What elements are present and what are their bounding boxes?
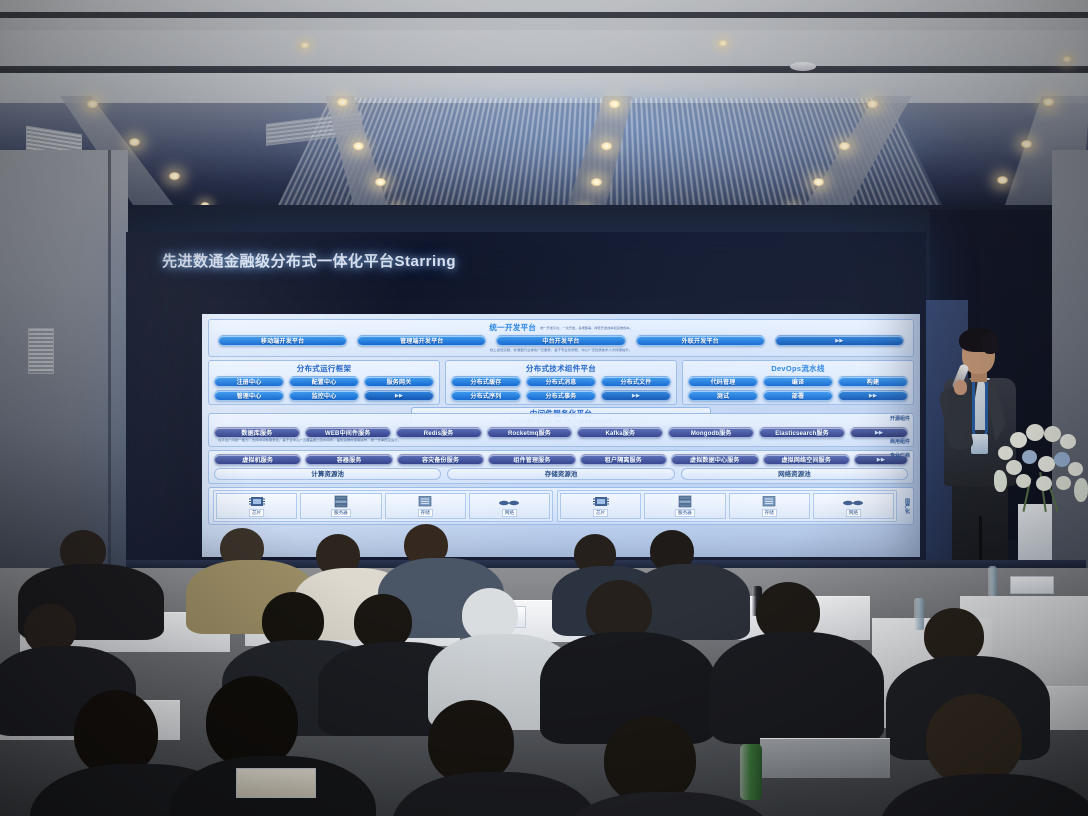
unified-dev-platform-note: 线上最佳实践，标准银行业体化广泛服务，基于专业化智能，中心广泛优质技术人才持续提… <box>214 348 908 353</box>
pill-dr-backup-service[interactable]: 容灾备份服务 <box>397 454 484 465</box>
pool-storage: 存储资源池 <box>447 468 674 480</box>
network-icon <box>814 494 893 509</box>
flower-bloom <box>1074 478 1088 502</box>
pill-compile[interactable]: 编译 <box>763 376 833 387</box>
recessed-spotlight <box>718 40 728 47</box>
pill-service-gateway[interactable]: 服务网关 <box>364 376 434 387</box>
pill-redis-service[interactable]: Redis服务 <box>396 427 482 438</box>
recessed-spotlight <box>168 172 181 181</box>
pill-unified-more[interactable] <box>775 335 904 346</box>
pill-manage-center[interactable]: 管理中心 <box>214 390 284 401</box>
ceiling-band-2 <box>0 30 1088 68</box>
hardware-cell-server: 服务器 <box>300 493 381 519</box>
pill-mongodb-service[interactable]: Mongodb服务 <box>668 427 754 438</box>
list-item <box>710 582 870 732</box>
network-icon <box>470 494 549 509</box>
pill-runtime-more[interactable] <box>364 390 434 401</box>
middleware-items: 数据库服务 WEB中间件服务 Redis服务 Rocketmq服务 Kafka服… <box>214 427 908 438</box>
flower-bloom <box>1060 434 1076 449</box>
recessed-spotlight <box>1020 140 1033 149</box>
pill-build[interactable]: 构建 <box>838 376 908 387</box>
table-row <box>760 738 890 778</box>
pill-devops-more[interactable] <box>838 390 908 401</box>
chip-icon <box>217 494 296 509</box>
flower-bloom <box>1036 476 1052 491</box>
list-item <box>880 694 1080 816</box>
wall-seam <box>108 150 111 580</box>
slide-layer-distributed-runtime-framework: 分布式运行框架 注册中心 配置中心 服务网关 管理中心 监控中心 <box>208 360 440 405</box>
storage-icon <box>730 494 809 509</box>
slide-layer-unified-dev-platform: 统一开发平台 统一开发平台，一次开发，多端部署，降低开发成本和运维成本。 移动端… <box>208 319 914 357</box>
pill-external-dev-platform[interactable]: 外联开发平台 <box>636 335 765 346</box>
flower-bloom <box>1044 426 1061 442</box>
pill-elasticsearch-service[interactable]: Elasticsearch服务 <box>759 427 845 438</box>
pill-distributed-message[interactable]: 分布式消息 <box>526 376 596 387</box>
recessed-spotlight <box>352 142 365 151</box>
flower-bloom-blue <box>1054 452 1070 467</box>
hardware-label-storage: 存储 <box>418 509 433 517</box>
virtualization-tag-vendor: 专业厂商 <box>890 452 910 459</box>
pill-vm-service[interactable]: 虚拟机服务 <box>214 454 301 465</box>
speaker-hand <box>954 380 967 395</box>
unified-dev-platform-header: 统一开发平台 统一开发平台，一次开发，多端部署，降低开发成本和运维成本。 <box>214 323 908 333</box>
middleware-tag-opensource: 开源组件 <box>890 415 910 422</box>
resource-pools: 计算资源池 存储资源池 网络资源池 <box>214 468 908 480</box>
devops-pipeline-items: 代码管理 编译 构建 测试 部署 <box>688 376 908 401</box>
name-card <box>236 768 316 798</box>
hardware-group-2: 芯片 服务器 存储 <box>557 490 897 522</box>
slide-layer-devops-pipeline: DevOps流水线 代码管理 编译 构建 测试 部署 <box>682 360 914 405</box>
recessed-spotlight <box>838 142 851 151</box>
hardware-cell-network-2: 网络 <box>813 493 894 519</box>
hardware-label-storage-2: 存储 <box>762 509 777 517</box>
pill-midend-dev-platform[interactable]: 中台开发平台 <box>496 335 625 346</box>
storage-icon <box>386 494 465 509</box>
recessed-spotlight <box>608 100 621 109</box>
hardware-cell-network: 网络 <box>469 493 550 519</box>
pill-distributed-cache[interactable]: 分布式缓存 <box>451 376 521 387</box>
hardware-cell-storage: 存储 <box>385 493 466 519</box>
wall-air-vent <box>28 328 54 374</box>
smoke-detector-icon <box>790 62 816 71</box>
hardware-cell-server-2: 服务器 <box>644 493 725 519</box>
pill-monitor-center[interactable]: 监控中心 <box>289 390 359 401</box>
distributed-tech-title: 分布式技术组件平台 <box>451 364 671 374</box>
recessed-spotlight <box>128 138 141 147</box>
hardware-label-network: 网络 <box>502 509 517 517</box>
recessed-spotlight <box>866 100 879 109</box>
pill-tenant-isolation-service[interactable]: 租户隔离服务 <box>580 454 667 465</box>
speaker-lanyard <box>972 382 988 438</box>
list-item <box>560 716 760 816</box>
slide-layer-distributed-tech-component-platform: 分布式技术组件平台 分布式缓存 分布式消息 分布式文件 分布式序列 分布式事务 <box>445 360 677 405</box>
name-card <box>1010 576 1054 594</box>
server-icon <box>301 494 380 509</box>
ceiling-reveal-1 <box>0 12 1088 18</box>
pill-config-center[interactable]: 配置中心 <box>289 376 359 387</box>
flower-bloom <box>1006 460 1022 475</box>
attendee-head <box>926 694 1022 786</box>
pill-database-service[interactable]: 数据库服务 <box>214 427 300 438</box>
pill-tech-more[interactable] <box>601 390 671 401</box>
slide-layer-middle-row: 分布式运行框架 注册中心 配置中心 服务网关 管理中心 监控中心 分布式技术组件… <box>208 360 914 405</box>
hardware-label-server-2: 服务器 <box>675 509 695 517</box>
conference-photo-scene: 先进数通金融级分布式一体化平台Starring 统一开发平台 统一开发平台，一次… <box>0 0 1088 816</box>
pill-distributed-sequence[interactable]: 分布式序列 <box>451 390 521 401</box>
flower-bloom <box>1038 456 1055 472</box>
hardware-label-chip-2: 芯片 <box>593 509 608 517</box>
right-wall-column <box>1052 150 1088 620</box>
hardware-cell-chip: 芯片 <box>216 493 297 519</box>
slide-layer-middleware-service-platform: 数据库服务 WEB中间件服务 Redis服务 Rocketmq服务 Kafka服… <box>208 413 914 447</box>
unified-dev-platform-items: 移动端开发平台 管理端开发平台 中台开发平台 外联开发平台 <box>214 335 908 346</box>
pool-network: 网络资源池 <box>681 468 908 480</box>
flower-bloom <box>994 470 1007 492</box>
flower-bloom <box>1026 424 1044 441</box>
water-bottle <box>988 566 997 596</box>
slide-title: 先进数通金融级分布式一体化平台Starring <box>162 250 456 271</box>
pill-code-management[interactable]: 代码管理 <box>688 376 758 387</box>
slide-layer-hardware-infrastructure: 芯片 服务器 存储 <box>208 487 914 525</box>
chip-icon <box>561 494 640 509</box>
middleware-title-anchor: 中间件服务化平台 屏蔽中间件差异，统一纳管、运维、部署、扩缩容等全生命周期管理 <box>208 408 914 410</box>
pill-middleware-more[interactable] <box>850 427 908 438</box>
recessed-spotlight <box>300 42 310 49</box>
hardware-tag-localization: 国产化 <box>904 499 911 514</box>
flower-bloom <box>1016 474 1031 488</box>
middleware-note: 在平台广阔统一能力，支持中间件服务化，基于全中心广泛覆盖能力及中间件，提供运维时… <box>214 438 908 443</box>
unified-dev-platform-title: 统一开发平台 <box>489 323 536 333</box>
flower-vase <box>1018 504 1052 560</box>
flower-arrangement <box>990 412 1088 542</box>
slide-layer-virtualization-platform: 虚拟机服务 容器服务 容灾备份服务 组件管理服务 租户隔离服务 虚拟数据中心服务… <box>208 450 914 484</box>
attendee-head <box>604 716 696 804</box>
flower-bloom-blue <box>1022 450 1037 464</box>
recessed-spotlight <box>1042 98 1055 107</box>
water-bottle <box>740 744 762 800</box>
flower-bloom <box>1068 462 1083 476</box>
pill-rocketmq-service[interactable]: Rocketmq服务 <box>487 427 573 438</box>
hardware-label-chip: 芯片 <box>249 509 264 517</box>
attendee-head <box>206 676 298 768</box>
ceiling-reveal-2 <box>0 66 1088 73</box>
distributed-runtime-title: 分布式运行框架 <box>214 364 434 374</box>
pill-virtual-datacenter-service[interactable]: 虚拟数据中心服务 <box>671 454 758 465</box>
attendee-body <box>880 774 1088 816</box>
recessed-spotlight <box>590 178 603 187</box>
list-item <box>392 700 582 816</box>
middleware-tag-commercial: 商用组件 <box>890 438 910 445</box>
flower-bloom <box>998 446 1013 460</box>
pill-container-service[interactable]: 容器服务 <box>305 454 392 465</box>
distributed-tech-items: 分布式缓存 分布式消息 分布式文件 分布式序列 分布式事务 <box>451 376 671 401</box>
server-icon <box>645 494 724 509</box>
slide-content: 统一开发平台 统一开发平台，一次开发，多端部署，降低开发成本和运维成本。 移动端… <box>202 314 920 557</box>
ceiling <box>0 0 1088 215</box>
devops-pipeline-title: DevOps流水线 <box>688 364 908 374</box>
speaker-badge <box>971 434 988 454</box>
hardware-label-network-2: 网络 <box>846 509 861 517</box>
recessed-spotlight <box>996 176 1009 185</box>
pill-web-middleware-service[interactable]: WEB中间件服务 <box>305 427 391 438</box>
pill-kafka-service[interactable]: Kafka服务 <box>577 427 663 438</box>
pill-virtual-network-service[interactable]: 虚拟网络空间服务 <box>763 454 850 465</box>
hardware-group-1: 芯片 服务器 存储 <box>213 490 553 522</box>
recessed-spotlight <box>86 100 99 109</box>
distributed-runtime-items: 注册中心 配置中心 服务网关 管理中心 监控中心 <box>214 376 434 401</box>
projection-screen: 先进数通金融级分布式一体化平台Starring 统一开发平台 统一开发平台，一次… <box>126 232 926 572</box>
pill-distributed-transaction[interactable]: 分布式事务 <box>526 390 596 401</box>
recessed-spotlight <box>1062 56 1072 63</box>
hardware-groups: 芯片 服务器 存储 <box>213 490 909 522</box>
recessed-spotlight <box>336 98 349 107</box>
speaker-hair-side <box>982 332 999 354</box>
pill-mobile-dev-platform[interactable]: 移动端开发平台 <box>218 335 347 346</box>
hardware-cell-storage-2: 存储 <box>729 493 810 519</box>
pill-registry-center[interactable]: 注册中心 <box>214 376 284 387</box>
pill-distributed-file[interactable]: 分布式文件 <box>601 376 671 387</box>
pool-compute: 计算资源池 <box>214 468 441 480</box>
unified-dev-platform-title-note: 统一开发平台，一次开发，多端部署，降低开发成本和运维成本。 <box>540 326 632 331</box>
virtualization-items: 虚拟机服务 容器服务 容灾备份服务 组件管理服务 租户隔离服务 虚拟数据中心服务… <box>214 454 908 465</box>
hardware-cell-chip-2: 芯片 <box>560 493 641 519</box>
pill-deploy[interactable]: 部署 <box>763 390 833 401</box>
pill-test[interactable]: 测试 <box>688 390 758 401</box>
recessed-spotlight <box>600 142 613 151</box>
flower-bloom <box>1056 476 1071 490</box>
recessed-spotlight <box>374 178 387 187</box>
pill-admin-dev-platform[interactable]: 管理端开发平台 <box>357 335 486 346</box>
recessed-spotlight <box>812 178 825 187</box>
hardware-label-server: 服务器 <box>331 509 351 517</box>
pill-component-mgmt-service[interactable]: 组件管理服务 <box>488 454 575 465</box>
flower-bloom <box>1010 432 1027 448</box>
